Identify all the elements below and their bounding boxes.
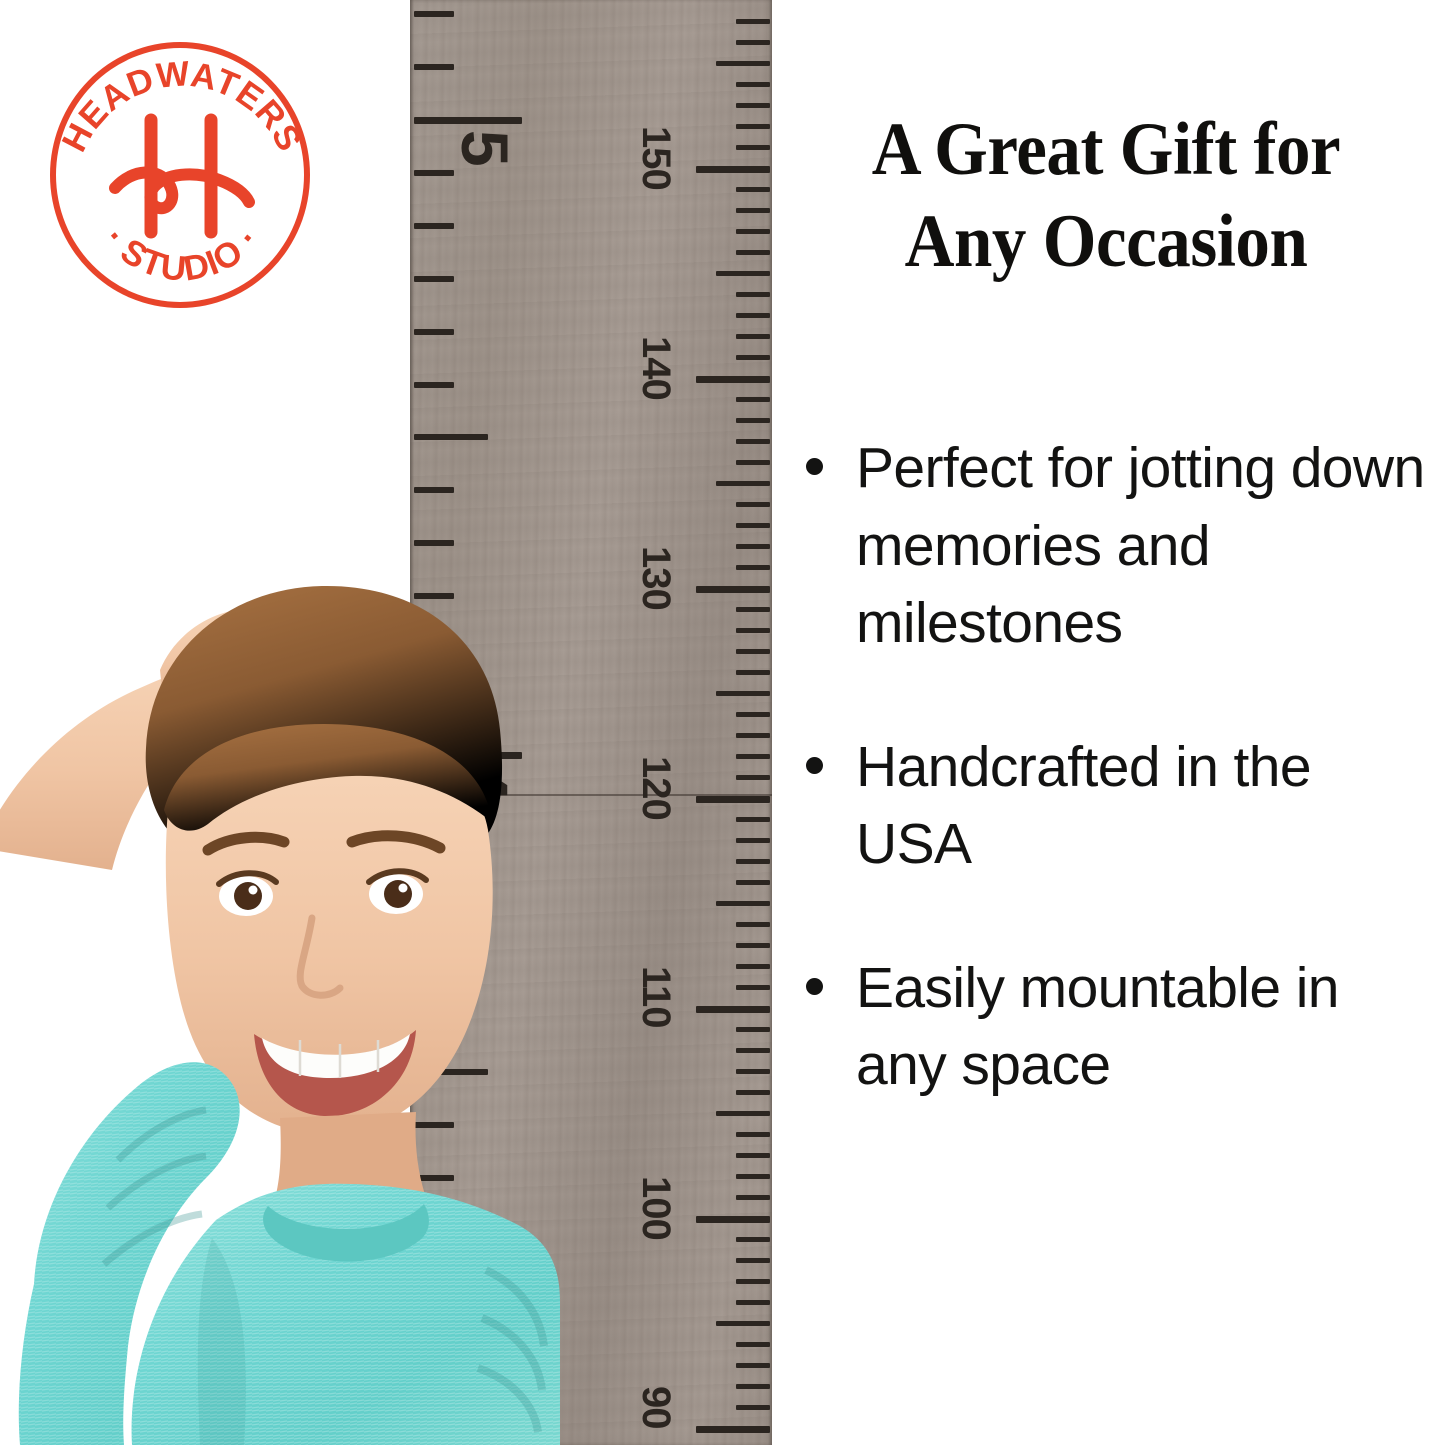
shirt-heather-texture <box>132 1184 560 1445</box>
ruler-tick-major <box>696 1006 770 1013</box>
feature-bullet-list: Perfect for jotting down memories and mi… <box>794 430 1434 1171</box>
iris-right <box>384 880 412 908</box>
eye-highlight-right <box>399 884 408 893</box>
ruler-tick-minor <box>716 481 770 486</box>
ruler-tick-minor <box>736 1405 770 1410</box>
ruler-tick-minor <box>716 271 770 276</box>
child-illustration <box>0 418 560 1445</box>
ruler-ft-label: 5 <box>452 130 518 167</box>
child-photo <box>0 418 560 1445</box>
ruler-inch-tick <box>414 170 454 176</box>
ruler-right-edge <box>768 0 772 1445</box>
ruler-tick-minor <box>736 355 770 360</box>
eye-highlight-left <box>249 886 258 895</box>
ruler-tick-minor <box>736 460 770 465</box>
ruler-cm-label: 110 <box>636 966 676 1028</box>
ruler-inch-tick <box>414 223 454 229</box>
list-item: Handcrafted in the USA <box>794 729 1434 884</box>
ruler-tick-minor <box>736 397 770 402</box>
ruler-tick-minor <box>716 1321 770 1326</box>
ruler-tick-minor <box>736 1048 770 1053</box>
ruler-tick-minor <box>736 1279 770 1284</box>
ruler-tick-minor <box>736 838 770 843</box>
ruler-cm-label: 100 <box>636 1176 676 1240</box>
ruler-tick-minor <box>736 313 770 318</box>
bullet-dot-icon <box>806 978 823 995</box>
ruler-tick-minor <box>736 1027 770 1032</box>
ruler-tick-minor <box>736 1132 770 1137</box>
ruler-tick-minor <box>736 1363 770 1368</box>
ruler-tick-minor <box>736 1300 770 1305</box>
ruler-cm-label: 90 <box>636 1386 676 1429</box>
ruler-cm-label: 130 <box>636 546 676 610</box>
ruler-tick-minor <box>736 1090 770 1095</box>
ruler-tick-major <box>696 796 770 803</box>
bullet-text: Easily mountable in any space <box>856 956 1339 1098</box>
ruler-tick-minor <box>736 817 770 822</box>
ruler-cm-label: 150 <box>636 126 676 190</box>
ruler-tick-minor <box>736 439 770 444</box>
ruler-tick-minor <box>736 922 770 927</box>
marketing-text-panel: A Great Gift for Any Occasion Perfect fo… <box>786 0 1445 1445</box>
ruler-tick-minor <box>736 985 770 990</box>
ruler-tick-minor <box>736 754 770 759</box>
ruler-tick-major <box>696 1426 770 1433</box>
ruler-tick-minor <box>736 943 770 948</box>
ruler-tick-minor <box>736 607 770 612</box>
ruler-tick-minor <box>736 1174 770 1179</box>
ruler-inch-tick <box>414 64 454 70</box>
ruler-tick-minor <box>736 565 770 570</box>
iris-left <box>234 882 262 910</box>
bullet-dot-icon <box>806 757 823 774</box>
ruler-tick-minor <box>736 502 770 507</box>
ruler-inch-tick <box>414 329 454 335</box>
ruler-tick-minor <box>736 775 770 780</box>
page-title: A Great Gift for Any Occasion <box>812 104 1401 287</box>
ruler-tick-minor <box>736 1258 770 1263</box>
ruler-tick-minor <box>716 901 770 906</box>
ruler-tick-minor <box>736 145 770 150</box>
ruler-tick-minor <box>736 334 770 339</box>
ruler-tick-minor <box>736 628 770 633</box>
ruler-tick-major <box>696 1216 770 1223</box>
ruler-tick-minor <box>716 61 770 66</box>
ruler-tick-minor <box>736 250 770 255</box>
ruler-tick-minor <box>736 292 770 297</box>
ruler-tick-minor <box>736 880 770 885</box>
ruler-tick-minor <box>736 124 770 129</box>
ruler-tick-minor <box>736 544 770 549</box>
ruler-tick-minor <box>736 859 770 864</box>
ruler-tick-major <box>696 586 770 593</box>
ruler-tick-minor <box>736 82 770 87</box>
headline-line-1: A Great Gift for <box>812 104 1401 196</box>
ruler-tick-minor <box>736 1195 770 1200</box>
ruler-tick-minor <box>736 229 770 234</box>
ruler-tick-minor <box>736 208 770 213</box>
ruler-tick-minor <box>736 418 770 423</box>
bullet-text: Handcrafted in the USA <box>856 735 1311 877</box>
ruler-tick-minor <box>736 1384 770 1389</box>
logo-monogram-icon <box>107 106 257 246</box>
ruler-tick-minor <box>736 649 770 654</box>
list-item: Perfect for jotting down memories and mi… <box>794 430 1434 663</box>
ruler-tick-minor <box>716 1111 770 1116</box>
ruler-inch-tick <box>414 11 454 17</box>
ruler-inch-tick <box>414 382 454 388</box>
ruler-foot-tick <box>414 117 522 124</box>
ruler-tick-minor <box>736 1153 770 1158</box>
product-infographic: 1501401301201101009054 <box>0 0 1445 1445</box>
ruler-tick-minor <box>736 1069 770 1074</box>
ruler-tick-minor <box>736 19 770 24</box>
ruler-tick-minor <box>736 187 770 192</box>
ruler-tick-minor <box>736 670 770 675</box>
ruler-tick-minor <box>736 1237 770 1242</box>
ruler-tick-minor <box>736 40 770 45</box>
ruler-tick-major <box>696 166 770 173</box>
ruler-tick-minor <box>716 691 770 696</box>
ruler-cm-label: 140 <box>636 336 676 400</box>
brand-logo: HEADWATERS · STUDIO · <box>36 32 328 320</box>
ruler-tick-minor <box>736 103 770 108</box>
list-item: Easily mountable in any space <box>794 950 1434 1105</box>
ruler-tick-major <box>696 376 770 383</box>
ruler-cm-label: 120 <box>636 756 676 820</box>
bullet-dot-icon <box>806 458 823 475</box>
ruler-tick-minor <box>736 733 770 738</box>
ruler-tick-minor <box>736 1342 770 1347</box>
ruler-tick-minor <box>736 712 770 717</box>
bullet-text: Perfect for jotting down memories and mi… <box>856 436 1425 655</box>
ruler-tick-minor <box>736 523 770 528</box>
headline-line-2: Any Occasion <box>812 196 1401 288</box>
ruler-tick-minor <box>736 964 770 969</box>
ruler-inch-tick <box>414 276 454 282</box>
